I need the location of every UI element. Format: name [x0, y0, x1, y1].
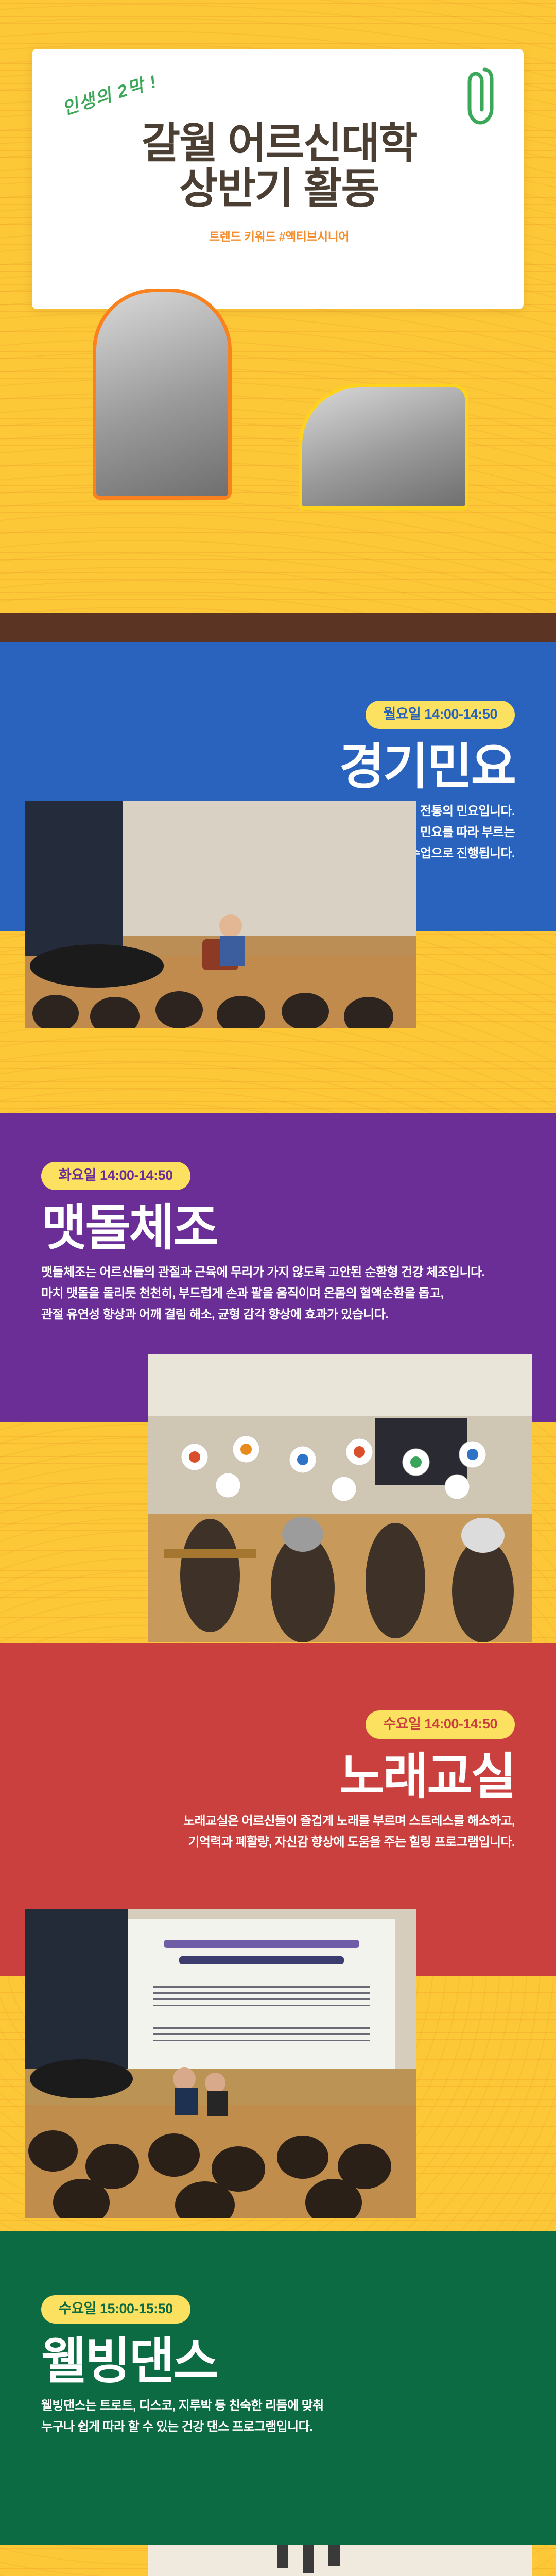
photo-wellbeing-dance: [148, 2545, 532, 2576]
cutout-photo-senior-couple: [93, 289, 232, 500]
paperclip-icon: [467, 64, 494, 126]
photo-gyeonggi-minyo: [25, 801, 416, 1028]
desc-line: 맷돌체조는 어르신들의 관절과 근육에 무리가 가지 않도록 고안된 순환형 건…: [41, 1262, 515, 1283]
brown-divider-bar: [0, 613, 556, 642]
section-content-norae-gyosil: 수요일 14:00-14:50 노래교실 노래교실은 어르신들이 즐겁게 노래를…: [41, 1710, 515, 1853]
hero-title-line1: 갈월 어르신대학: [68, 121, 490, 166]
photo-illustration: [148, 2545, 532, 2576]
hero-title-line2: 상반기 활동: [68, 166, 490, 212]
poster-page: 인생의 2막 ! 갈월 어르신대학 상반기 활동 트렌드 키워드 #액티브시니어…: [0, 0, 556, 2576]
page-title: 갈월 어르신대학 상반기 활동: [68, 121, 490, 211]
section-desc-wellbeing-dance: 웰빙댄스는 트로트, 디스코, 지루박 등 친숙한 리듬에 맞춰 누구나 쉽게 …: [41, 2395, 515, 2438]
schedule-badge-gyeonggi-minyo: 월요일 14:00-14:50: [366, 701, 515, 729]
section-title-gyeonggi-minyo: 경기민요: [41, 741, 515, 793]
section-title-maetdol-chejo: 맷돌체조: [41, 1202, 515, 1255]
hero-script-text: 인생의 2막 !: [59, 67, 160, 120]
section-title-wellbeing-dance: 웰빙댄스: [41, 2336, 515, 2388]
photo-illustration: [25, 1909, 416, 2218]
desc-line: 노래교실은 어르신들이 즐겁게 노래를 부르며 스트레스를 해소하고,: [41, 1810, 515, 1832]
desc-line: 웰빙댄스는 트로트, 디스코, 지루박 등 친숙한 리듬에 맞춰: [41, 2395, 515, 2416]
section-content-wellbeing-dance: 수요일 15:00-15:50 웰빙댄스 웰빙댄스는 트로트, 디스코, 지루박…: [41, 2295, 515, 2437]
schedule-badge-wellbeing-dance: 수요일 15:00-15:50: [41, 2295, 190, 2324]
section-title-norae-gyosil: 노래교실: [41, 1751, 515, 1803]
desc-line: 누구나 쉽게 따라 할 수 있는 건강 댄스 프로그램입니다.: [41, 2416, 515, 2437]
desc-line: 마치 맷돌을 돌리듯 천천히, 부드럽게 손과 팔을 움직이며 온몸의 혈액순환…: [41, 1283, 515, 1304]
photo-maetdol-chejo: [148, 1354, 532, 1642]
desc-line: 기억력과 폐활량, 자신감 향상에 도움을 주는 힐링 프로그램입니다.: [41, 1832, 515, 1853]
section-desc-maetdol-chejo: 맷돌체조는 어르신들의 관절과 근육에 무리가 가지 않도록 고안된 순환형 건…: [41, 1262, 515, 1326]
desc-line: 관절 유연성 향상과 어깨 결림 해소, 균형 감각 향상에 효과가 있습니다.: [41, 1304, 515, 1325]
photo-illustration: [148, 1354, 532, 1642]
photo-norae-gyosil: [25, 1909, 416, 2218]
hero-section: 인생의 2막 ! 갈월 어르신대학 상반기 활동 트렌드 키워드 #액티브시니어: [0, 0, 556, 330]
photo-illustration: [25, 801, 416, 1028]
schedule-badge-norae-gyosil: 수요일 14:00-14:50: [366, 1710, 515, 1739]
schedule-badge-maetdol-chejo: 화요일 14:00-14:50: [41, 1162, 190, 1190]
section-content-maetdol-chejo: 화요일 14:00-14:50 맷돌체조 맷돌체조는 어르신들의 관절과 근육에…: [41, 1162, 515, 1326]
section-desc-norae-gyosil: 노래교실은 어르신들이 즐겁게 노래를 부르며 스트레스를 해소하고, 기억력과…: [41, 1810, 515, 1853]
hero-subtitle: 트렌드 키워드 #액티브시니어: [68, 227, 490, 244]
hero-card: 인생의 2막 ! 갈월 어르신대학 상반기 활동 트렌드 키워드 #액티브시니어: [32, 49, 524, 309]
cutout-photo-senior-singer: [299, 384, 468, 510]
